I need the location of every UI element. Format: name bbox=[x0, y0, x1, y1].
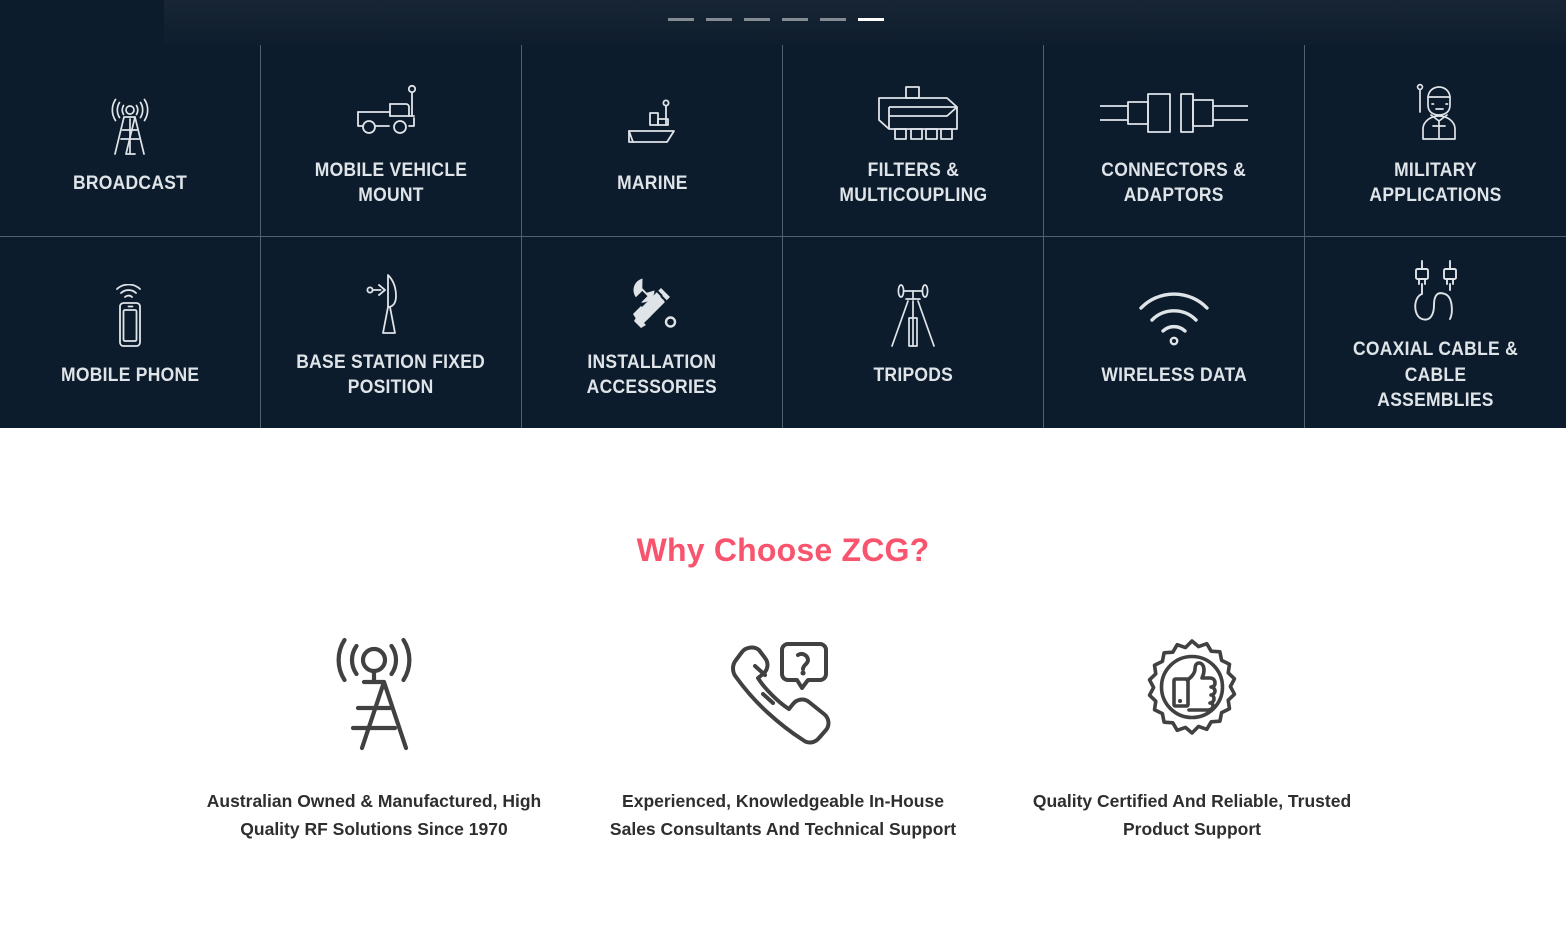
category-cell-wireless-data[interactable]: WIRELESS DATA bbox=[1044, 237, 1305, 429]
coax-cable-assembly-icon bbox=[1408, 255, 1464, 329]
tripod-mast-icon bbox=[886, 281, 940, 355]
category-cell-military-applications[interactable]: MILITARY APPLICATIONS bbox=[1305, 45, 1566, 237]
category-cell-base-station-fixed-position[interactable]: BASE STATION FIXED POSITION bbox=[261, 237, 522, 429]
category-cell-connectors-adaptors[interactable]: CONNECTORS & ADAPTORS bbox=[1044, 45, 1305, 237]
carousel-indicators[interactable] bbox=[668, 18, 884, 21]
wrench-tools-icon bbox=[621, 268, 683, 342]
carousel-dot-2[interactable] bbox=[706, 18, 732, 21]
category-label: INSTALLATION ACCESSORIES bbox=[587, 350, 717, 401]
broadcast-tower-icon bbox=[104, 89, 156, 163]
category-label: MOBILE VEHICLE MOUNT bbox=[282, 158, 499, 209]
category-label: WIRELESS DATA bbox=[1101, 363, 1247, 388]
category-cell-broadcast[interactable]: BROADCAST bbox=[0, 45, 261, 237]
carousel-dot-3[interactable] bbox=[744, 18, 770, 21]
why-card-experienced-sales: Experienced, Knowledgeable In-House Sale… bbox=[579, 629, 988, 843]
carousel-dot-5[interactable] bbox=[820, 18, 846, 21]
wifi-signal-icon bbox=[1137, 281, 1211, 355]
carousel-dot-1[interactable] bbox=[668, 18, 694, 21]
broadcast-tower-outline-icon bbox=[322, 629, 426, 759]
category-cell-marine[interactable]: MARINE bbox=[522, 45, 783, 237]
category-label: FILTERS & MULTICOUPLING bbox=[839, 158, 987, 209]
phone-question-icon bbox=[729, 629, 837, 759]
why-card-quality-certified: Quality Certified And Reliable, Trusted … bbox=[988, 629, 1397, 843]
category-cell-filters-multicoupling[interactable]: FILTERS & MULTICOUPLING bbox=[783, 45, 1044, 237]
why-card-text: Quality Certified And Reliable, Trusted … bbox=[1016, 787, 1368, 843]
category-cell-mobile-phone[interactable]: MOBILE PHONE bbox=[0, 237, 261, 429]
why-choose-cards: Australian Owned & Manufactured, High Qu… bbox=[0, 629, 1566, 843]
category-cell-mobile-vehicle-mount[interactable]: MOBILE VEHICLE MOUNT bbox=[261, 45, 522, 237]
category-grid: BROADCAST MOBILE VEHICLE MOUNT bbox=[0, 45, 1566, 428]
why-choose-title: Why Choose ZCG? bbox=[0, 532, 1566, 569]
category-label: MILITARY APPLICATIONS bbox=[1326, 158, 1544, 209]
category-label: BASE STATION FIXED POSITION bbox=[297, 350, 486, 401]
category-cell-installation-accessories[interactable]: INSTALLATION ACCESSORIES bbox=[522, 237, 783, 429]
filter-multicoupler-icon bbox=[865, 76, 961, 150]
category-label: CONNECTORS & ADAPTORS bbox=[1102, 158, 1247, 209]
category-label: TRIPODS bbox=[873, 363, 953, 388]
category-label: COAXIAL CABLE & CABLE ASSEMBLIES bbox=[1326, 337, 1544, 413]
why-card-australian-owned: Australian Owned & Manufactured, High Qu… bbox=[170, 629, 579, 843]
hero-carousel bbox=[0, 0, 1566, 45]
why-card-text: Australian Owned & Manufactured, High Qu… bbox=[198, 787, 550, 843]
category-cell-tripods[interactable]: TRIPODS bbox=[783, 237, 1044, 429]
hero-background-image bbox=[164, 0, 1566, 45]
category-label: MOBILE PHONE bbox=[61, 363, 199, 388]
carousel-dot-6[interactable] bbox=[858, 18, 884, 21]
category-cell-coaxial-cable-assemblies[interactable]: COAXIAL CABLE & CABLE ASSEMBLIES bbox=[1305, 237, 1566, 429]
quality-badge-thumbsup-icon bbox=[1137, 629, 1247, 759]
mobile-phone-signal-icon bbox=[107, 281, 153, 355]
vehicle-antenna-icon bbox=[353, 76, 429, 150]
category-label: BROADCAST bbox=[73, 171, 187, 196]
category-label: MARINE bbox=[617, 171, 688, 196]
hero-left-letterbox bbox=[0, 0, 164, 45]
base-station-dish-icon bbox=[361, 268, 421, 342]
soldier-radio-icon bbox=[1410, 76, 1462, 150]
boat-antenna-icon bbox=[617, 89, 687, 163]
coax-connector-icon bbox=[1098, 76, 1250, 150]
why-choose-section: Why Choose ZCG? Australian Owned & Manuf… bbox=[0, 428, 1566, 843]
carousel-dot-4[interactable] bbox=[782, 18, 808, 21]
why-card-text: Experienced, Knowledgeable In-House Sale… bbox=[607, 787, 959, 843]
